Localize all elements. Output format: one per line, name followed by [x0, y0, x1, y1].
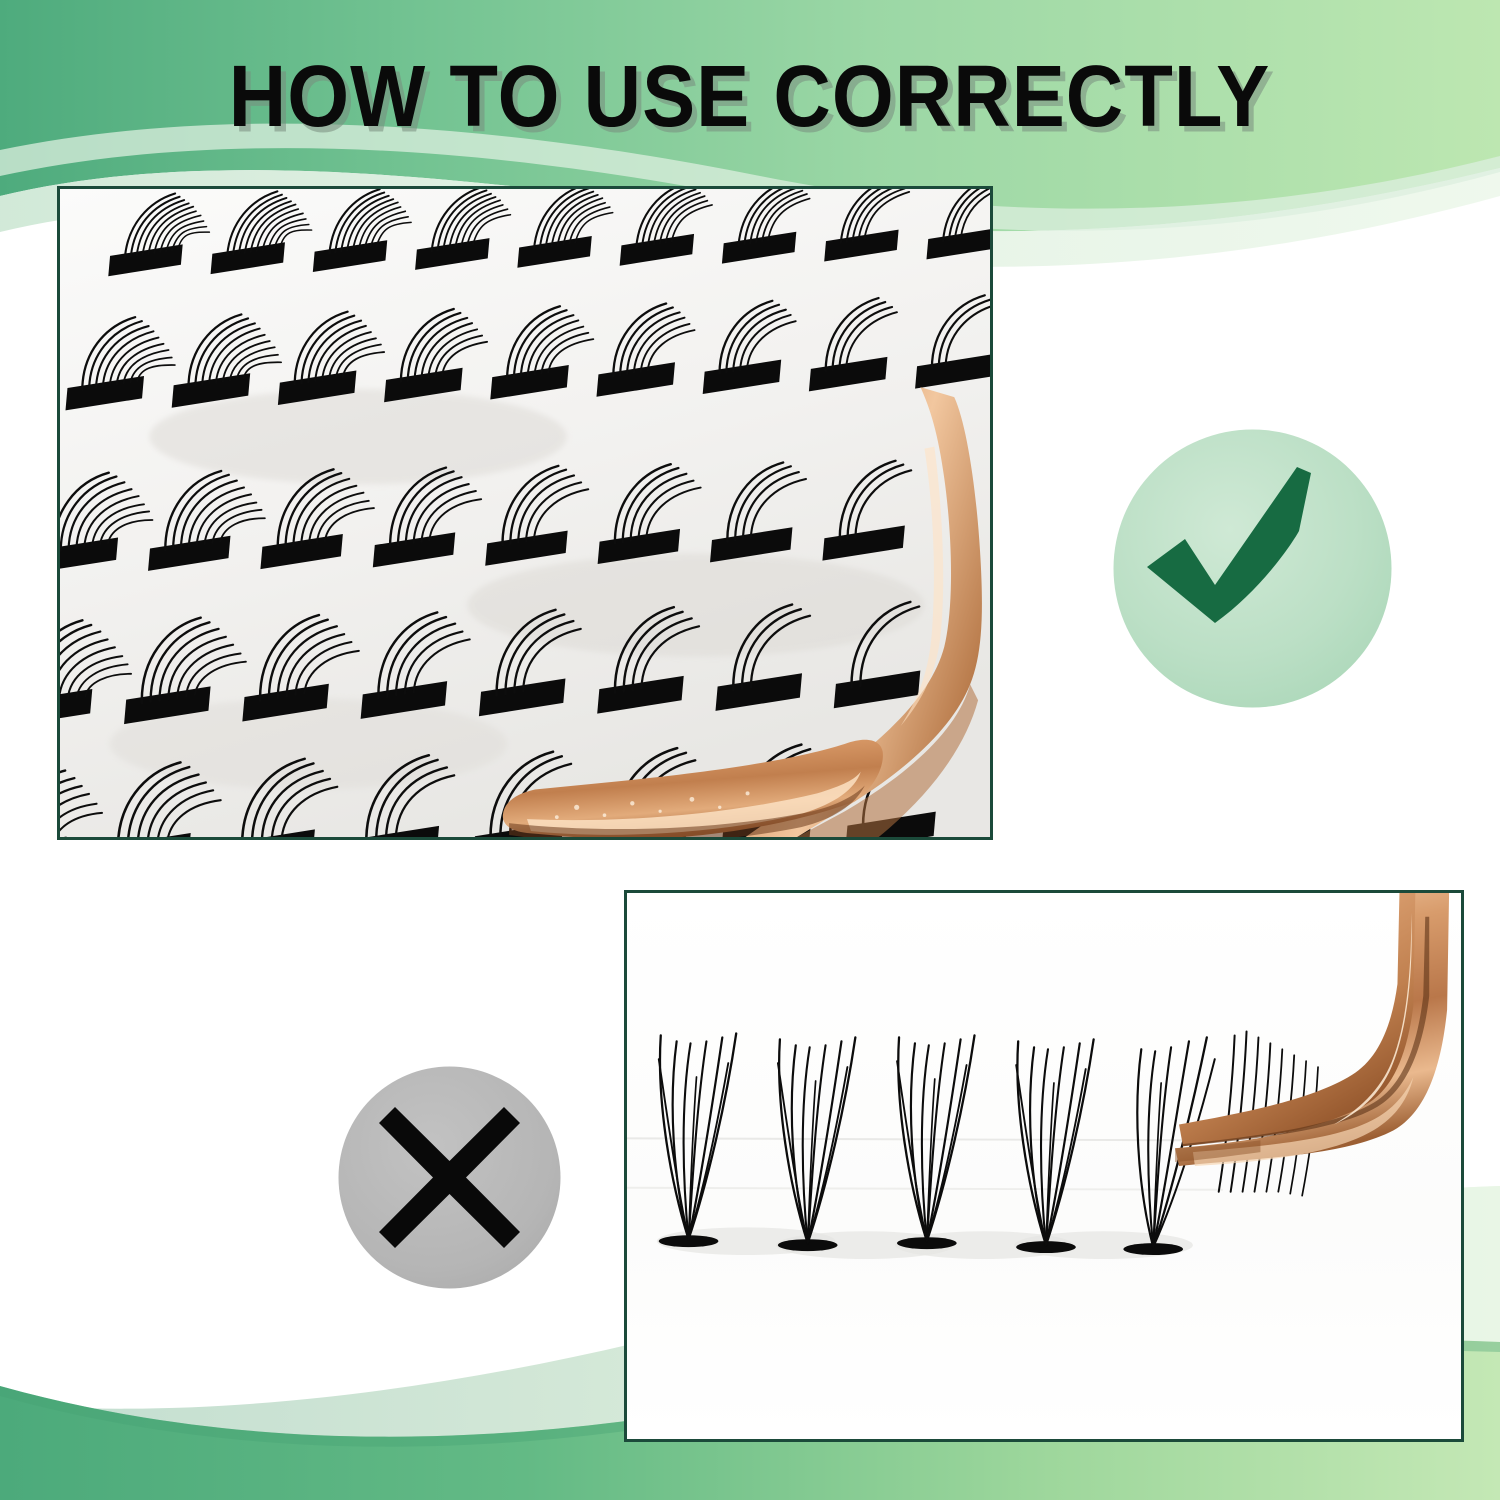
- correct-usage-photo-art: [60, 189, 990, 837]
- page-title-container: HOW TO USE CORRECTLY: [0, 52, 1500, 130]
- check-icon: [1111, 427, 1394, 710]
- infographic-canvas: HOW TO USE CORRECTLY: [0, 0, 1500, 1500]
- status-badge-correct: [1111, 427, 1394, 710]
- incorrect-usage-photo: [624, 890, 1464, 1442]
- incorrect-usage-photo-art: [627, 893, 1461, 1439]
- correct-usage-photo: [57, 186, 993, 840]
- page-title: HOW TO USE CORRECTLY: [229, 52, 1271, 139]
- status-badge-incorrect: [337, 1065, 562, 1290]
- cross-icon: [337, 1065, 562, 1290]
